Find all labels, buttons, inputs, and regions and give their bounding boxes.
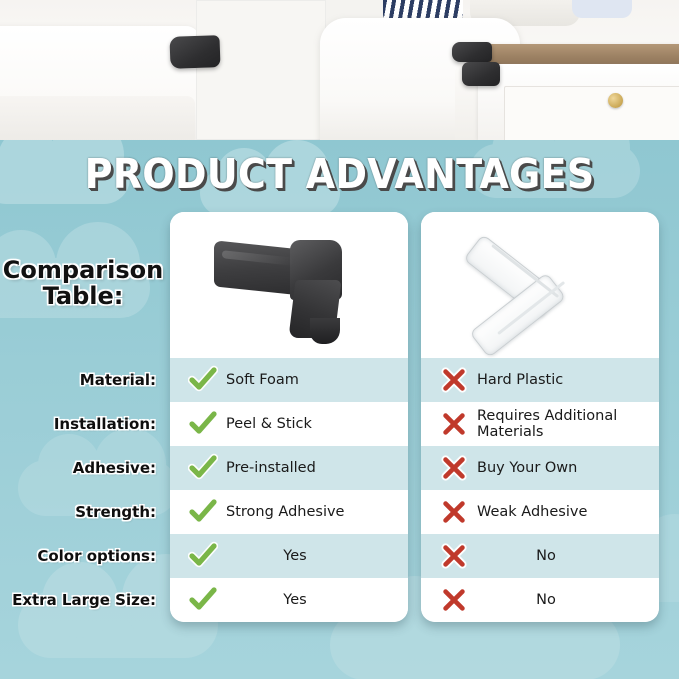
row-label-4: Color options: (0, 534, 168, 578)
green-check-icon (180, 409, 226, 439)
sofa-seat-cushion (0, 96, 195, 140)
wood-table-top (470, 44, 679, 66)
feature-value: Peel & Stick (226, 416, 398, 432)
feature-value: Strong Adhesive (226, 504, 398, 520)
red-cross-icon (431, 542, 477, 570)
red-cross-icon (431, 586, 477, 614)
feature-value: Requires Additional Materials (477, 408, 649, 440)
feature-value: Soft Foam (226, 372, 398, 388)
table-row: Yes (170, 578, 408, 622)
green-check-icon (180, 541, 226, 571)
row-label-column: Material:Installation:Adhesive:Strength:… (0, 358, 168, 622)
lifestyle-photo-banner (0, 0, 679, 140)
red-cross-icon (431, 454, 477, 482)
red-cross-icon (431, 366, 477, 394)
table-row: Soft Foam (170, 358, 408, 402)
row-label-text: Strength: (75, 503, 156, 521)
red-cross-icon (440, 586, 468, 614)
feature-value: No (477, 592, 649, 608)
row-label-text: Adhesive: (73, 459, 156, 477)
green-check-icon (188, 453, 218, 483)
row-label-2: Adhesive: (0, 446, 168, 490)
red-cross-icon (440, 498, 468, 526)
row-label-0: Material: (0, 358, 168, 402)
row-label-text: Installation: (54, 415, 156, 433)
red-cross-icon (440, 366, 468, 394)
product-image-black-foam-corner-guard (170, 212, 408, 358)
blue-pillow (572, 0, 632, 18)
product-column-our-product: Soft FoamPeel & StickPre-installedStrong… (170, 212, 408, 622)
black-foam-corner-guard-illustration (214, 232, 364, 344)
red-cross-icon (431, 410, 477, 438)
table-row: No (421, 578, 659, 622)
table-row: Weak Adhesive (421, 490, 659, 534)
green-check-icon (180, 585, 226, 615)
green-check-icon (188, 585, 218, 615)
row-label-5: Extra Large Size: (0, 578, 168, 622)
row-label-text: Extra Large Size: (12, 591, 156, 609)
red-cross-icon (440, 454, 468, 482)
clear-plastic-corner-guard-illustration (467, 228, 617, 346)
table-row: Pre-installed (170, 446, 408, 490)
corner-guard-on-table-front (462, 62, 500, 86)
red-cross-icon (431, 498, 477, 526)
row-label-text: Material: (80, 371, 156, 389)
green-check-icon (180, 365, 226, 395)
row-label-3: Strength: (0, 490, 168, 534)
feature-value: Pre-installed (226, 460, 398, 476)
green-check-icon (180, 453, 226, 483)
feature-value: Yes (226, 592, 398, 608)
comparison-table-heading: Comparison Table: (0, 258, 166, 310)
table-row: Peel & Stick (170, 402, 408, 446)
table-row: Strong Adhesive (170, 490, 408, 534)
green-check-icon (188, 365, 218, 395)
green-check-icon (180, 497, 226, 527)
red-cross-icon (440, 410, 468, 438)
corner-guard-on-sofa (169, 35, 220, 69)
table-row: Buy Your Own (421, 446, 659, 490)
page-title: PRODUCT ADVANTAGES (24, 150, 655, 198)
feature-rows-our-product: Soft FoamPeel & StickPre-installedStrong… (170, 358, 408, 622)
drawer-knob (608, 93, 623, 108)
feature-value: Weak Adhesive (477, 504, 649, 520)
textured-wall-panel (196, 0, 326, 140)
row-label-1: Installation: (0, 402, 168, 446)
product-image-clear-plastic-corner-guard (421, 212, 659, 358)
table-row: Requires Additional Materials (421, 402, 659, 446)
feature-rows-other-product: Hard PlasticRequires Additional Material… (421, 358, 659, 622)
infographic-page: PRODUCT ADVANTAGES Comparison Table: Mat… (0, 0, 679, 679)
feature-value: Yes (226, 548, 398, 564)
green-check-icon (188, 541, 218, 571)
comparison-heading-line2: Table: (0, 284, 166, 310)
feature-value: No (477, 548, 649, 564)
feature-value: Hard Plastic (477, 372, 649, 388)
comparison-heading-line1: Comparison (0, 258, 166, 284)
red-cross-icon (440, 542, 468, 570)
table-row: Yes (170, 534, 408, 578)
row-label-text: Color options: (37, 547, 156, 565)
feature-value: Buy Your Own (477, 460, 649, 476)
green-check-icon (188, 409, 218, 439)
table-row: No (421, 534, 659, 578)
product-column-other-product: Hard PlasticRequires Additional Material… (421, 212, 659, 622)
green-check-icon (188, 497, 218, 527)
table-drawer (504, 86, 679, 140)
table-row: Hard Plastic (421, 358, 659, 402)
corner-guard-on-table-back (452, 42, 492, 62)
